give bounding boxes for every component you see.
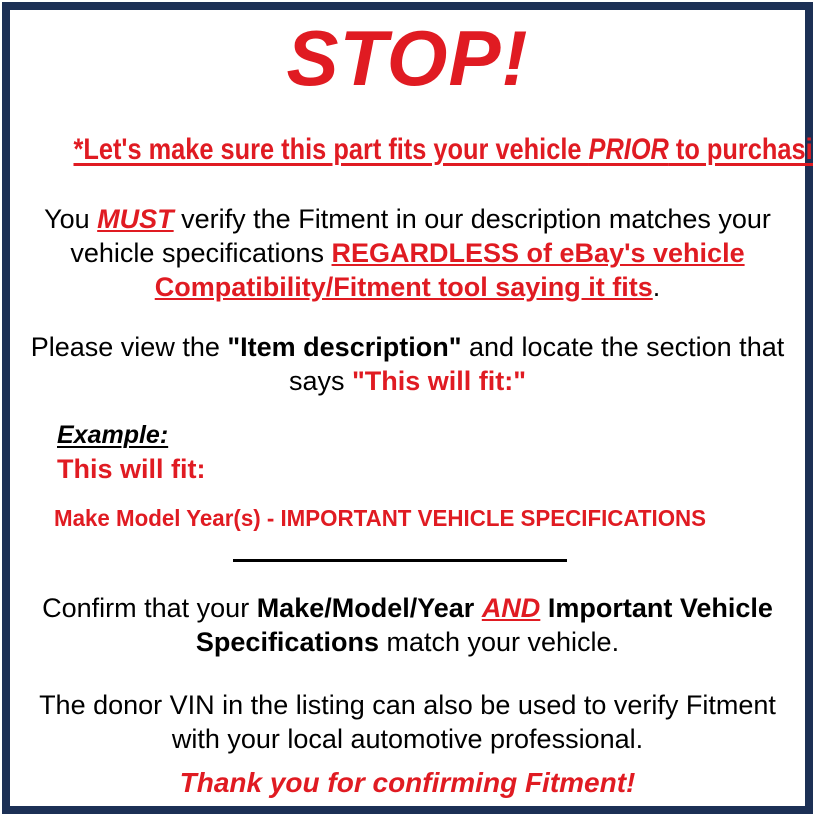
emphasis-item-description: "Item description" [227, 332, 461, 362]
notice-body: STOP! *Let's make sure this part fits yo… [10, 10, 805, 806]
fitment-notice-card: STOP! *Let's make sure this part fits yo… [2, 2, 813, 814]
paragraph-item-description: Please view the "Item description" and l… [28, 330, 787, 398]
subtitle-text: *Let's make sure this part fits your veh… [73, 133, 813, 167]
thanks-line: Thank you for confirming Fitment! [28, 766, 787, 800]
view-part1: Please view the [31, 332, 228, 362]
subtitle-suffix: to purchasing* [669, 133, 813, 166]
emphasis-make-model-year: Make/Model/Year [257, 593, 475, 623]
example-spec-line: Make Model Year(s) - IMPORTANT VEHICLE S… [54, 504, 726, 532]
confirm-part2: match your vehicle. [379, 627, 619, 657]
example-fit-heading: This will fit: [57, 453, 206, 485]
emphasis-and: AND [482, 593, 541, 623]
emphasis-must: MUST [97, 204, 174, 234]
confirm-space-1 [474, 593, 482, 623]
subtitle-emphasis-prior: PRIOR [589, 133, 669, 166]
confirm-part1: Confirm that your [42, 593, 257, 623]
confirm-space-2 [540, 593, 548, 623]
subtitle-line: *Let's make sure this part fits your veh… [10, 133, 805, 167]
emphasis-this-will-fit: "This will fit:" [352, 366, 526, 396]
paragraph-confirm: Confirm that your Make/Model/Year AND Im… [28, 591, 787, 659]
example-label: Example: [57, 420, 168, 450]
paragraph-donor-vin: The donor VIN in the listing can also be… [28, 688, 787, 756]
paragraph-must-verify: You MUST verify the Fitment in our descr… [28, 202, 787, 304]
subtitle-prefix: *Let's make sure this part fits your veh… [73, 133, 588, 166]
stop-heading: STOP! [10, 19, 805, 97]
must-part3: . [653, 272, 661, 302]
section-divider [233, 559, 567, 562]
must-part1: You [44, 204, 97, 234]
example-spec-text: Make Model Year(s) - IMPORTANT VEHICLE S… [54, 504, 706, 532]
